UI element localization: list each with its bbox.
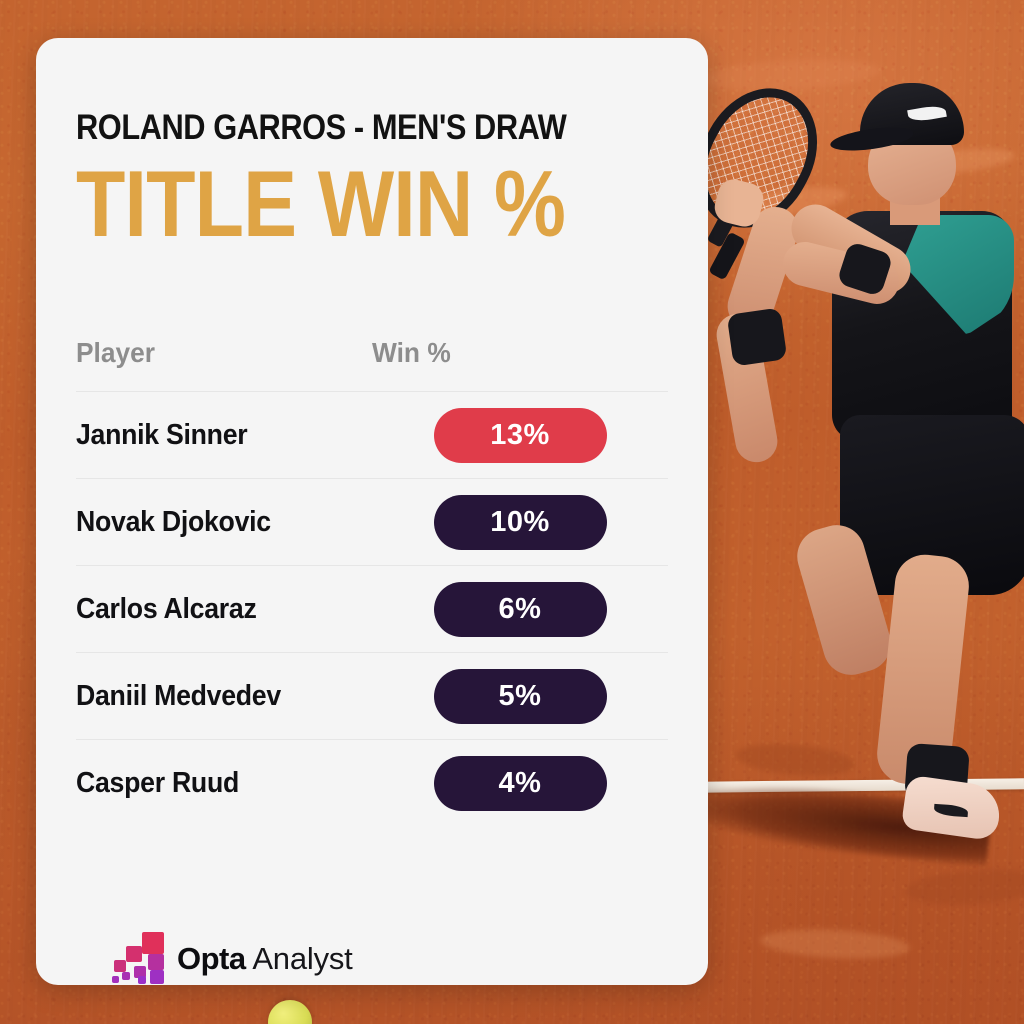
win-percentage-badge: 5% — [434, 669, 607, 724]
player-name: Carlos Alcaraz — [76, 593, 257, 626]
logo-square — [138, 976, 146, 984]
logo-brand: Opta — [177, 941, 246, 976]
player-name-cell: Jannik Sinner — [76, 392, 372, 479]
player-name-cell: Daniil Medvedev — [76, 653, 372, 740]
player-wristband-lower — [727, 307, 788, 366]
column-header-win: Win % — [372, 337, 650, 392]
win-percentage-cell: 10% — [372, 479, 668, 566]
player-name-cell: Casper Ruud — [76, 740, 372, 827]
win-percentage-badge: 10% — [434, 495, 607, 550]
win-percentage-cell: 5% — [372, 653, 668, 740]
logo-suffix: Analyst — [246, 941, 353, 976]
logo-square — [114, 960, 126, 972]
table-row: Jannik Sinner13% — [76, 392, 668, 479]
player-name: Daniil Medvedev — [76, 680, 281, 713]
table-row: Carlos Alcaraz6% — [76, 566, 668, 653]
stat-card: ROLAND GARROS - MEN'S DRAW TITLE WIN % P… — [36, 38, 708, 985]
logo-square — [122, 972, 130, 980]
opta-analyst-wordmark: Opta Analyst — [177, 943, 353, 974]
player-name: Jannik Sinner — [76, 419, 247, 452]
logo-square — [150, 970, 164, 984]
logo-square — [142, 932, 164, 954]
table-header-row: Player Win % — [76, 337, 668, 392]
player-name: Novak Djokovic — [76, 506, 271, 539]
table-row: Casper Ruud4% — [76, 740, 668, 827]
player-name-cell: Carlos Alcaraz — [76, 566, 372, 653]
opta-chart-mark-icon — [112, 932, 164, 984]
win-percentage-cell: 13% — [372, 392, 668, 479]
table-body: Jannik Sinner13%Novak Djokovic10%Carlos … — [76, 392, 668, 827]
win-percentage-badge: 4% — [434, 756, 607, 811]
table-row: Novak Djokovic10% — [76, 479, 668, 566]
win-percentage-cell: 4% — [372, 740, 668, 827]
opta-analyst-logo[interactable]: Opta Analyst — [112, 932, 353, 984]
logo-square — [112, 976, 119, 983]
table-row: Daniil Medvedev5% — [76, 653, 668, 740]
table-head: Player Win % — [76, 337, 668, 392]
player-name-cell: Novak Djokovic — [76, 479, 372, 566]
player-name: Casper Ruud — [76, 767, 239, 800]
logo-square — [148, 954, 164, 970]
column-header-player: Player — [76, 337, 354, 392]
logo-square — [126, 946, 142, 962]
card-kicker: ROLAND GARROS - MEN'S DRAW — [76, 110, 597, 145]
win-percentage-badge: 13% — [434, 408, 607, 463]
win-percentage-table: Player Win % Jannik Sinner13%Novak Djoko… — [76, 337, 668, 826]
card-headline: TITLE WIN % — [76, 157, 585, 251]
win-percentage-cell: 6% — [372, 566, 668, 653]
win-percentage-badge: 6% — [434, 582, 607, 637]
tennis-player-figure — [690, 55, 1024, 855]
